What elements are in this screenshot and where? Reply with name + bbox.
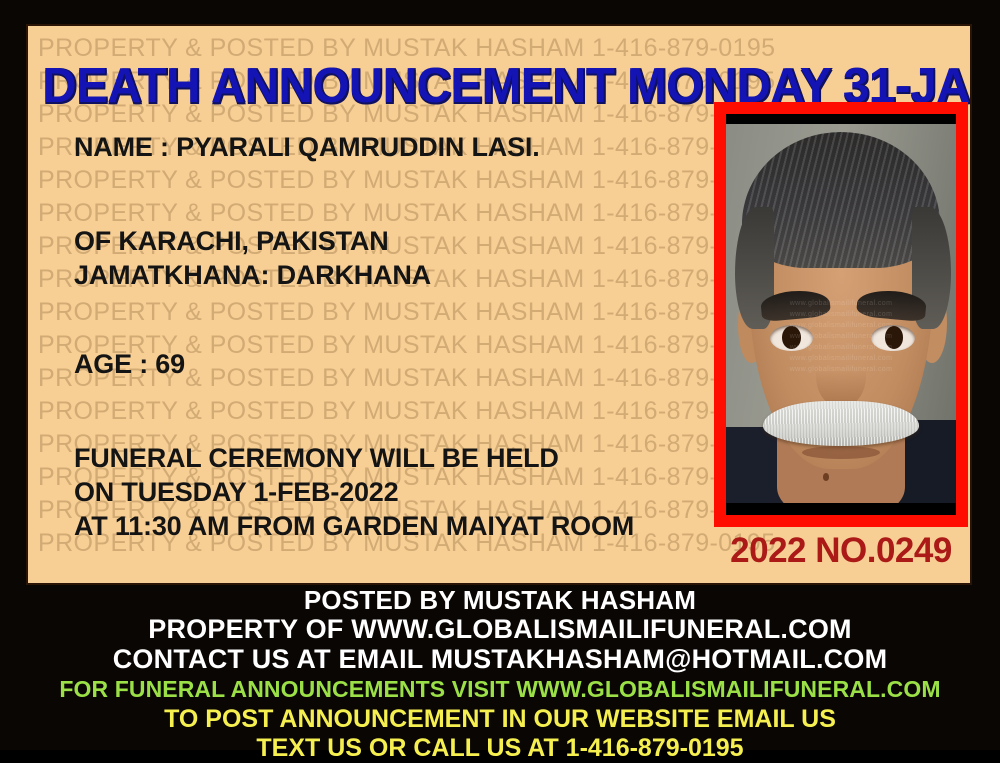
- footer-phone[interactable]: TEXT US OR CALL US AT 1-416-879-0195: [0, 734, 1000, 763]
- spacer: [74, 292, 694, 347]
- detail-name: NAME : PYARALI QAMRUDDIN LASI.: [74, 130, 694, 164]
- portrait-frame: www.globalismailifuneral.comwww.globalis…: [714, 102, 968, 527]
- spacer: [74, 381, 694, 441]
- pupil-left: [782, 326, 800, 349]
- deceased-details: NAME : PYARALI QAMRUDDIN LASI. OF KARACH…: [74, 130, 694, 543]
- pupil-right: [885, 326, 903, 349]
- spacer: [74, 164, 694, 224]
- footer-contact-block: POSTED BY MUSTAK HASHAM PROPERTY OF WWW.…: [0, 586, 1000, 763]
- detail-origin: OF KARACHI, PAKISTAN: [74, 224, 694, 258]
- portrait-inner-frame: www.globalismailifuneral.comwww.globalis…: [726, 114, 956, 515]
- announcement-card: PROPERTY & POSTED BY MUSTAK HASHAM 1-416…: [28, 26, 970, 583]
- footer-property-of: PROPERTY OF WWW.GLOBALISMAILIFUNERAL.COM: [0, 615, 1000, 644]
- detail-funeral-2: ON TUESDAY 1-FEB-2022: [74, 475, 694, 509]
- death-announcement-poster: PROPERTY & POSTED BY MUSTAK HASHAM 1-416…: [0, 0, 1000, 750]
- footer-announcements-link[interactable]: FOR FUNERAL ANNOUNCEMENTS VISIT WWW.GLOB…: [0, 674, 1000, 705]
- reference-number: 2022 NO.0249: [714, 531, 968, 571]
- footer-posted-by: POSTED BY MUSTAK HASHAM: [0, 586, 1000, 615]
- detail-funeral-1: FUNERAL CEREMONY WILL BE HELD: [74, 441, 694, 475]
- detail-jamatkhana: JAMATKHANA: DARKHANA: [74, 258, 694, 292]
- portrait-photo: www.globalismailifuneral.comwww.globalis…: [726, 124, 956, 503]
- footer-post-instructions: TO POST ANNOUNCEMENT IN OUR WEBSITE EMAI…: [0, 705, 1000, 734]
- nose: [816, 344, 867, 408]
- mustache: [763, 401, 919, 446]
- detail-funeral-3: AT 11:30 AM FROM GARDEN MAIYAT ROOM: [74, 509, 694, 543]
- footer-contact-email: CONTACT US AT EMAIL MUSTAKHASHAM@HOTMAIL…: [0, 644, 1000, 674]
- detail-age: AGE : 69: [74, 347, 694, 381]
